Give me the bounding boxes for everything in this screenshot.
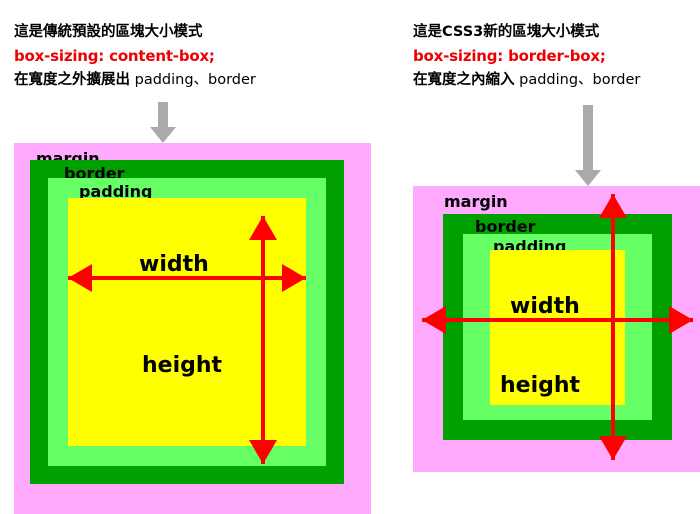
left-border-box: border padding xyxy=(30,160,344,484)
diagram-canvas: 這是傳統預設的區塊大小模式 box-sizing: content-box; 在… xyxy=(0,0,700,514)
right-height-arrow-head-bottom xyxy=(599,436,627,460)
left-height-arrow-head-bottom xyxy=(249,440,277,464)
right-height-arrow-line xyxy=(611,194,615,460)
right-border-label: border xyxy=(475,219,536,235)
right-height-arrow-head-top xyxy=(599,194,627,218)
caption-line-3-rest-right: padding、border xyxy=(515,72,641,88)
down-arrow-icon-left xyxy=(150,102,176,143)
caption-line-3-bold: 在寬度之外擴展出 xyxy=(14,72,130,88)
left-margin-box: margin border padding width height xyxy=(14,143,371,514)
caption-line-1: 這是傳統預設的區塊大小模式 xyxy=(14,20,256,44)
right-width-label: width xyxy=(510,296,580,318)
right-width-arrow-head-left xyxy=(422,306,446,334)
caption-line-3-right: 在寬度之內縮入 padding、border xyxy=(413,68,640,92)
left-width-arrow-head-right xyxy=(282,264,306,292)
right-width-arrow-head-right xyxy=(669,306,693,334)
left-height-arrow-head-top xyxy=(249,216,277,240)
caption-line-1-right: 這是CSS3新的區塊大小模式 xyxy=(413,20,640,44)
left-width-label: width xyxy=(139,254,209,276)
down-arrow-shaft xyxy=(158,102,168,129)
caption-code-content-box: box-sizing: content-box; xyxy=(14,44,256,68)
right-margin-box: margin border padding width height xyxy=(413,186,700,472)
right-height-label: height xyxy=(500,375,580,397)
down-arrow-icon-right xyxy=(575,105,601,186)
caption-line-3: 在寬度之外擴展出 padding、border xyxy=(14,68,256,92)
caption-code-border-box: box-sizing: border-box; xyxy=(413,44,640,68)
left-height-label: height xyxy=(142,355,222,377)
caption-content-box: 這是傳統預設的區塊大小模式 box-sizing: content-box; 在… xyxy=(14,20,256,92)
caption-line-3-bold-right: 在寬度之內縮入 xyxy=(413,72,515,88)
caption-border-box: 這是CSS3新的區塊大小模式 box-sizing: border-box; 在… xyxy=(413,20,640,92)
caption-line-3-rest: padding、border xyxy=(130,72,256,88)
left-height-arrow-line xyxy=(261,216,265,464)
left-padding-box: padding xyxy=(48,178,326,466)
right-margin-label: margin xyxy=(444,194,508,210)
left-width-arrow-head-left xyxy=(68,264,92,292)
down-arrow-head xyxy=(150,127,176,143)
down-arrow-shaft-right xyxy=(583,105,593,172)
right-border-box: border padding xyxy=(443,214,672,440)
down-arrow-head-right xyxy=(575,170,601,186)
